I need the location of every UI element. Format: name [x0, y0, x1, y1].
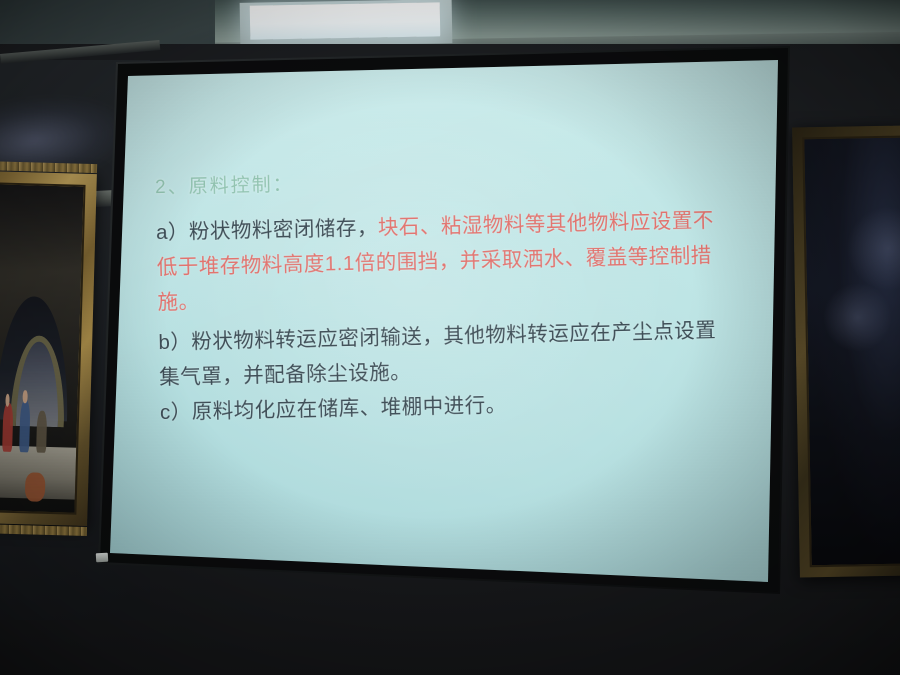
- painting-canvas-right: [802, 135, 900, 568]
- figure-1: [2, 403, 13, 452]
- projector-room-photo: 2、原料控制： a）粉状物料密闭储存，块石、粘湿物料等其他物料应设置不 低于堆存…: [0, 0, 900, 675]
- classical-scene-art: [0, 183, 84, 512]
- painting-canvas-left: [0, 181, 86, 514]
- slide-content: 2、原料控制： a）粉状物料密闭储存，块石、粘湿物料等其他物料应设置不 低于堆存…: [80, 34, 797, 601]
- framed-classical-painting-left: [0, 170, 97, 526]
- figure-2: [19, 400, 30, 452]
- cloud-2: [821, 283, 892, 352]
- figure-5: [36, 411, 47, 454]
- cloud-1: [846, 205, 900, 292]
- dark-landscape-art: [804, 137, 900, 565]
- figure-foreground-2: [25, 472, 46, 502]
- recessed-panel-light: [250, 2, 441, 39]
- slide-line-a1-accent: 块石、粘湿物料等其他物料应设置不: [378, 209, 714, 239]
- slide-heading: 2、原料控制：: [155, 159, 755, 199]
- figure-head-2: [23, 391, 28, 404]
- framed-dark-painting-right: [792, 125, 900, 578]
- slide-line-a1-ink: a）粉状物料密闭储存，: [156, 216, 378, 244]
